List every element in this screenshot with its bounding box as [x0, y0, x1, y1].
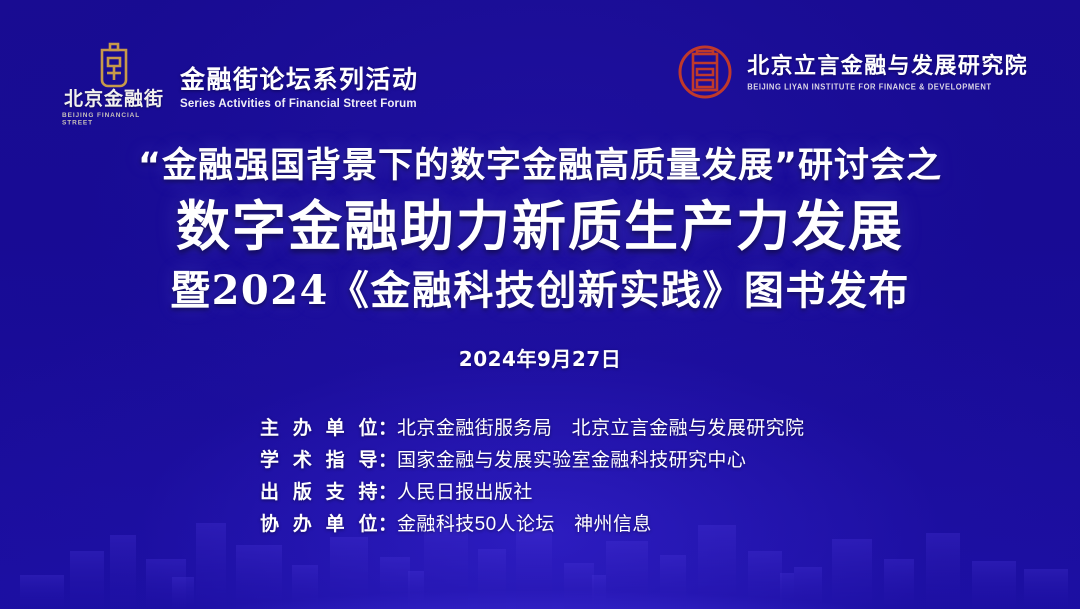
event-date: 2024年9月27日 — [0, 343, 1080, 372]
credit-colon: ： — [378, 480, 397, 505]
credit-label: 主办单位 — [260, 416, 378, 441]
event-poster: 北京金融街 BEIJING FINANCIAL STREET 金融街论坛系列活动… — [0, 0, 1080, 609]
credit-colon: ： — [378, 512, 397, 537]
credit-value: 金融科技50人论坛 神州信息 — [397, 512, 820, 537]
main-title: 数字金融助力新质生产力发展 — [0, 197, 1080, 256]
bfs-mark-cn: 北京金融街 — [64, 90, 164, 110]
liyan-institute-seal-icon — [677, 44, 733, 100]
credit-row-publishing-support: 出版支持 ： 人民日报出版社 — [260, 480, 820, 505]
credit-value: 北京金融街服务局 北京立言金融与发展研究院 — [397, 416, 820, 441]
logo-beijing-financial-street: 北京金融街 BEIJING FINANCIAL STREET 金融街论坛系列活动… — [62, 40, 419, 126]
liyan-title-en: BEIJING LIYAN INSTITUTE FOR FINANCE & DE… — [747, 82, 1028, 92]
credit-label: 出版支持 — [260, 480, 378, 505]
beijing-financial-street-gate-icon — [94, 40, 134, 88]
bfs-mark: 北京金融街 BEIJING FINANCIAL STREET — [62, 40, 166, 126]
floor-glow-decoration — [0, 529, 1080, 609]
credit-label: 学术指导 — [260, 448, 378, 473]
credit-label: 协办单位 — [260, 512, 378, 537]
poster-header: 北京金融街 BEIJING FINANCIAL STREET 金融街论坛系列活动… — [0, 40, 1080, 132]
credit-row-organizers: 主办单位 ： 北京金融街服务局 北京立言金融与发展研究院 — [260, 416, 820, 441]
poster-title-block: “金融强国背景下的数字金融高质量发展”研讨会之 数字金融助力新质生产力发展 暨2… — [0, 146, 1080, 372]
forum-title-en: Series Activities of Financial Street Fo… — [180, 98, 419, 110]
liyan-title-cn: 北京立言金融与发展研究院 — [747, 53, 1028, 79]
subtitle-line: “金融强国背景下的数字金融高质量发展”研讨会之 — [0, 146, 1080, 187]
credit-row-co-organizers: 协办单位 ： 金融科技50人论坛 神州信息 — [260, 512, 820, 537]
secondary-title: 暨2024《金融科技创新实践》图书发布 — [0, 269, 1080, 314]
credit-colon: ： — [378, 448, 397, 473]
credit-row-academic-guidance: 学术指导 ： 国家金融与发展实验室金融科技研究中心 — [260, 448, 820, 473]
bfs-mark-en: BEIJING FINANCIAL STREET — [62, 112, 166, 127]
credits-block: 主办单位 ： 北京金融街服务局 北京立言金融与发展研究院 学术指导 ： 国家金融… — [0, 416, 1080, 537]
credit-value: 人民日报出版社 — [397, 480, 820, 505]
liyan-wordmark: 北京立言金融与发展研究院 BEIJING LIYAN INSTITUTE FOR… — [747, 53, 1028, 91]
forum-title-cn: 金融街论坛系列活动 — [180, 66, 419, 95]
credit-colon: ： — [378, 416, 397, 441]
credit-value: 国家金融与发展实验室金融科技研究中心 — [397, 448, 820, 473]
logo-liyan-institute: 北京立言金融与发展研究院 BEIJING LIYAN INSTITUTE FOR… — [677, 44, 1028, 100]
bfs-wordmark: 金融街论坛系列活动 Series Activities of Financial… — [180, 66, 419, 126]
